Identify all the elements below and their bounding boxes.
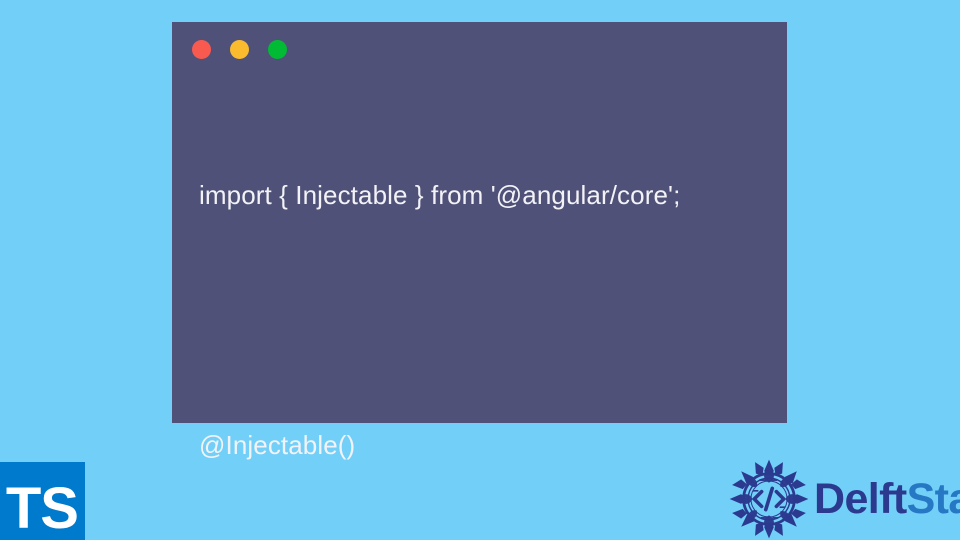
code-line: @Injectable(): [199, 425, 781, 467]
window-controls: [192, 40, 287, 59]
delftstack-code-mandala-icon: [728, 458, 810, 540]
minimize-window-dot[interactable]: [230, 40, 249, 59]
typescript-logo-badge: TS: [0, 462, 85, 540]
delftstack-wordmark: DelftStack: [814, 478, 960, 521]
maximize-window-dot[interactable]: [268, 40, 287, 59]
code-line: [199, 300, 781, 342]
delftstack-brand: DelftStack: [728, 458, 960, 540]
code-block[interactable]: import { Injectable } from '@angular/cor…: [199, 91, 781, 540]
code-window: import { Injectable } from '@angular/cor…: [172, 22, 787, 423]
code-line: import { Injectable } from '@angular/cor…: [199, 175, 781, 217]
close-window-dot[interactable]: [192, 40, 211, 59]
brand-word-stack: Stack: [907, 475, 960, 523]
brand-word-delft: Delft: [814, 475, 907, 523]
typescript-logo-label: TS: [6, 479, 78, 540]
